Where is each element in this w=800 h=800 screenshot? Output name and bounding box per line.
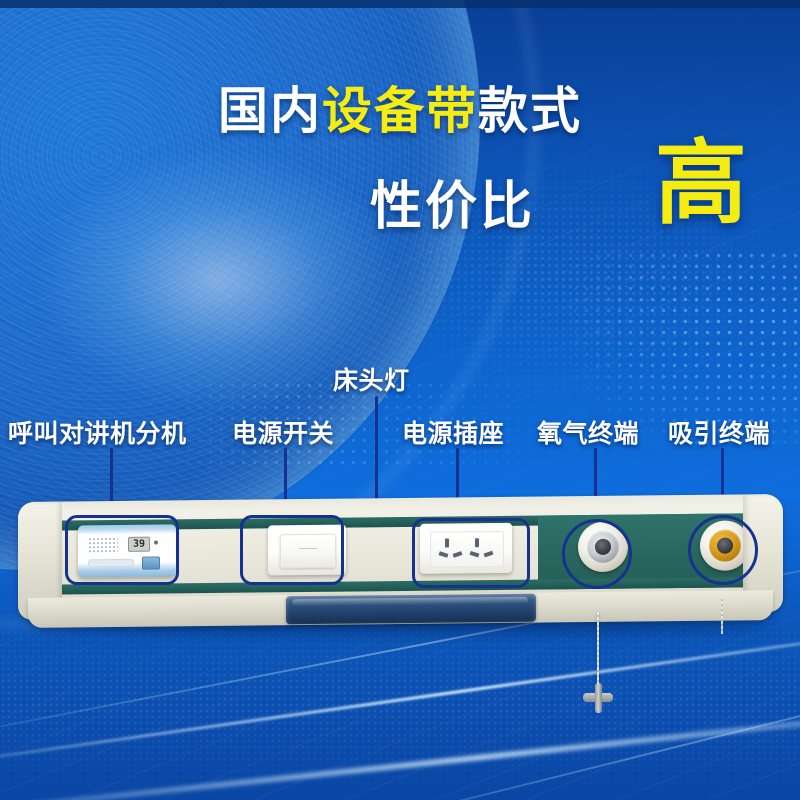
callout-label-oxygen-terminal: 氧气终端 — [537, 414, 639, 450]
annotation-box-power-socket — [412, 518, 530, 588]
callout-label-nurse-call-intercom: 呼叫对讲机分机 — [8, 414, 187, 450]
pull-cord-handle[interactable] — [583, 683, 613, 713]
annotation-circle-oxygen-terminal — [562, 519, 632, 589]
callout-label-bed-lamp: 床头灯 — [333, 361, 410, 397]
lamp-gloss-highlight — [292, 597, 528, 606]
callout-label-suction-terminal: 吸引终端 — [668, 414, 770, 450]
callout-label-power-switch: 电源开关 — [232, 414, 334, 450]
cord-handle-stem — [595, 683, 602, 713]
bed-lamp[interactable] — [286, 594, 536, 625]
headline-secondary-row: 性价比 高 — [0, 162, 800, 242]
promotional-banner: 国内设备带款式 性价比 高 呼叫对讲机分机 电源开关 床头灯 电源插座 氧气终端… — [0, 0, 800, 800]
pull-cord[interactable] — [597, 612, 599, 690]
annotation-circle-suction-terminal — [688, 515, 758, 585]
top-edge-band — [0, 0, 800, 8]
headline-part-2: 款式 — [478, 83, 582, 139]
headline-part-1: 国内 — [218, 83, 322, 139]
callout-label-power-socket: 电源插座 — [402, 414, 504, 450]
headline-emphasis: 高 — [655, 138, 747, 230]
annotation-box-power-switch — [240, 515, 344, 585]
headline-subtitle: 性价比 — [370, 164, 535, 239]
headline-block: 国内设备带款式 性价比 高 — [0, 86, 800, 242]
pull-cord-secondary[interactable] — [721, 596, 723, 634]
annotation-box-nurse-call-intercom — [65, 515, 179, 585]
headline-accent: 设备带 — [322, 83, 478, 139]
headline-primary: 国内设备带款式 — [0, 86, 800, 136]
